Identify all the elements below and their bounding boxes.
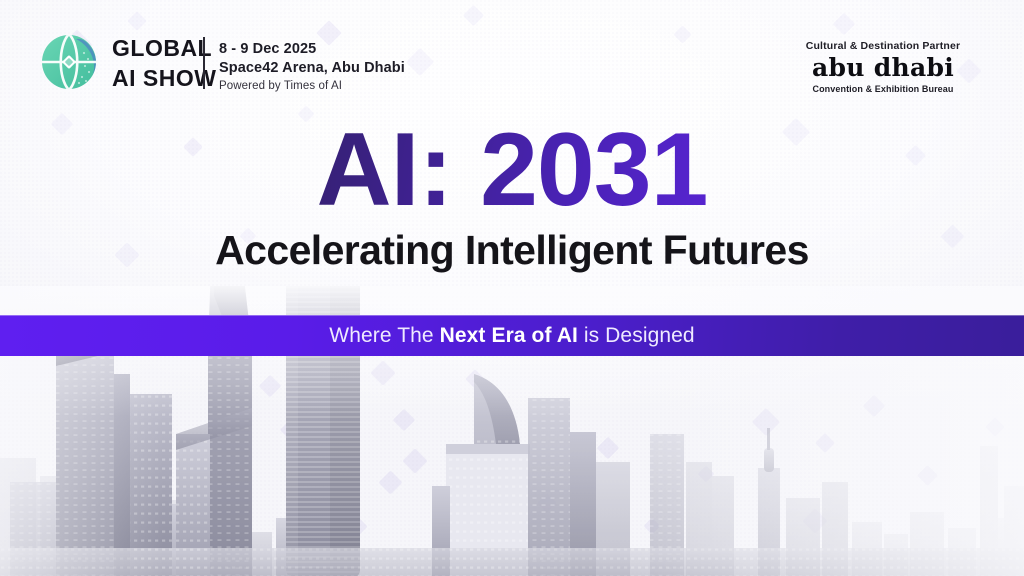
wordmark-line-global: GLOBAL — [112, 37, 216, 60]
event-banner-slide: GLOBAL AI SHOW 8 - 9 Dec 2025 Space42 Ar… — [0, 0, 1024, 576]
event-venue: Space42 Arena, Abu Dhabi — [219, 59, 405, 78]
header: GLOBAL AI SHOW 8 - 9 Dec 2025 Space42 Ar… — [0, 0, 1024, 112]
tagline-suffix: is Designed — [578, 324, 695, 347]
sponsor-label: Cultural & Destination Partner — [778, 40, 988, 52]
sponsor-subtitle: Convention & Exhibition Bureau — [778, 84, 988, 94]
page-subtitle: Accelerating Intelligent Futures — [0, 229, 1024, 272]
event-dates: 8 - 9 Dec 2025 — [219, 40, 405, 59]
tagline-highlight: Next Era of AI — [440, 324, 578, 347]
tagline-text: Where The Next Era of AI is Designed — [329, 324, 694, 348]
header-divider — [203, 37, 205, 89]
sponsor-block: Cultural & Destination Partner abu dhabi… — [778, 40, 988, 94]
event-details: 8 - 9 Dec 2025 Space42 Arena, Abu Dhabi … — [219, 40, 405, 94]
tagline-banner: Where The Next Era of AI is Designed — [0, 315, 1024, 356]
wordmark: GLOBAL AI SHOW — [112, 35, 216, 90]
sponsor-name: abu dhabi — [778, 54, 988, 82]
wordmark-line-ai-show: AI SHOW — [112, 67, 216, 90]
page-title: AI: 2031 — [0, 118, 1024, 222]
global-ai-show-logo[interactable]: GLOBAL AI SHOW — [40, 33, 216, 91]
event-powered-by: Powered by Times of AI — [219, 79, 405, 94]
tagline-prefix: Where The — [329, 324, 439, 347]
globe-sphere-icon — [40, 33, 98, 91]
hero-section: AI: 2031 Accelerating Intelligent Future… — [0, 118, 1024, 272]
